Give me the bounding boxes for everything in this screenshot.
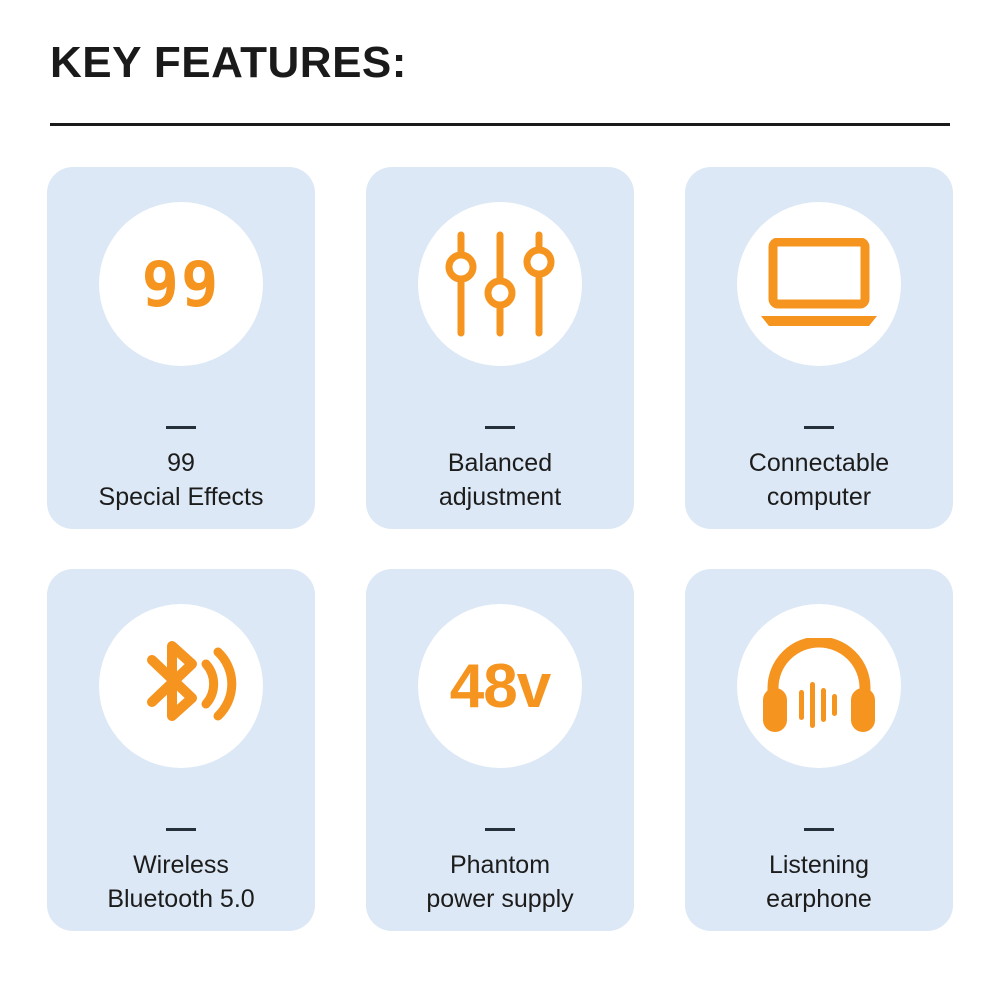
phantom-power-48v-icon: 48v: [450, 651, 550, 722]
feature-caption: Phantom power supply: [416, 849, 583, 916]
icon-circle: 48v: [418, 604, 582, 768]
icon-circle: [737, 604, 901, 768]
caption-divider: [804, 426, 834, 429]
icon-circle: [418, 202, 582, 366]
key-features-page: KEY FEATURES: 99 99 Special Effects: [0, 0, 1000, 1000]
feature-card-balanced-adjustment[interactable]: Balanced adjustment: [366, 167, 634, 529]
feature-card-wireless-bluetooth[interactable]: Wireless Bluetooth 5.0: [47, 569, 315, 931]
caption-line-1: Listening: [769, 851, 869, 879]
icon-circle: [99, 604, 263, 768]
equalizer-sliders-icon: [441, 229, 559, 339]
feature-card-phantom-power[interactable]: 48v Phantom power supply: [366, 569, 634, 931]
features-grid: 99 99 Special Effects: [47, 167, 953, 931]
caption-line-1: Balanced: [448, 449, 552, 477]
feature-card-listening-earphone[interactable]: Listening earphone: [685, 569, 953, 931]
feature-caption: 99 Special Effects: [89, 447, 274, 514]
icon-circle: [737, 202, 901, 366]
feature-card-special-effects[interactable]: 99 99 Special Effects: [47, 167, 315, 529]
caption-line-2: computer: [749, 481, 889, 515]
feature-caption: Balanced adjustment: [429, 447, 571, 514]
feature-caption: Wireless Bluetooth 5.0: [97, 849, 264, 916]
bluetooth-wireless-icon: [122, 632, 240, 740]
title-divider: [50, 123, 950, 126]
feature-card-connectable-computer[interactable]: Connectable computer: [685, 167, 953, 529]
caption-divider: [485, 828, 515, 831]
caption-line-1: Phantom: [450, 851, 550, 879]
caption-line-2: Special Effects: [99, 481, 264, 515]
caption-line-1: Wireless: [133, 851, 229, 879]
page-title: KEY FEATURES:: [50, 38, 407, 88]
caption-line-2: earphone: [766, 883, 872, 917]
caption-line-2: power supply: [426, 883, 573, 917]
seven-segment-99-icon: 99: [142, 248, 221, 321]
caption-line-2: adjustment: [439, 481, 561, 515]
caption-line-1: 99: [167, 449, 195, 477]
caption-line-1: Connectable: [749, 449, 889, 477]
caption-divider: [485, 426, 515, 429]
caption-line-2: Bluetooth 5.0: [107, 883, 254, 917]
laptop-computer-icon: [759, 238, 879, 330]
caption-divider: [804, 828, 834, 831]
icon-circle: 99: [99, 202, 263, 366]
caption-divider: [166, 828, 196, 831]
feature-caption: Listening earphone: [756, 849, 882, 916]
feature-caption: Connectable computer: [739, 447, 899, 514]
headphone-monitoring-icon: [759, 638, 879, 734]
caption-divider: [166, 426, 196, 429]
